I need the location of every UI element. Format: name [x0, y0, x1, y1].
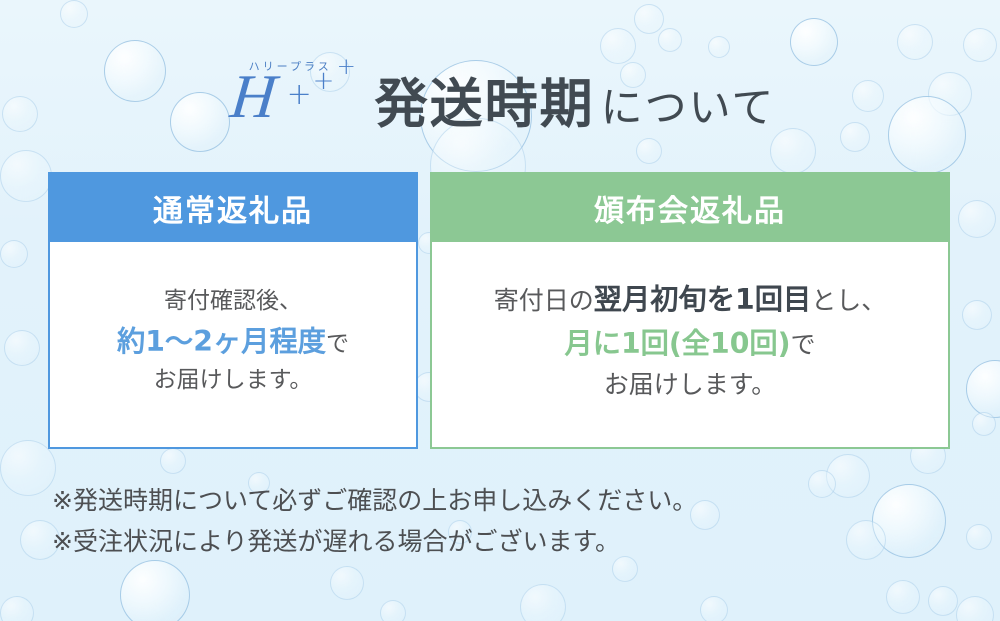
brand-logo: ハリープラス H + + + [225, 52, 373, 144]
page-header: ハリープラス H + + + 発送時期 について [0, 48, 1000, 144]
bubble-icon [928, 586, 958, 616]
card-subscription-header: 頒布会返礼品 [432, 174, 948, 242]
bubble-icon [972, 412, 996, 436]
card-regular-line-2-tail: で [326, 331, 349, 357]
card-subscription-gift: 頒布会返礼品 寄付日の翌月初旬を1回目とし、 月に1回(全10回)で お届けしま… [430, 172, 950, 449]
card-regular-gift: 通常返礼品 寄付確認後、 約1〜2ヶ月程度で お届けします。 [48, 172, 418, 449]
card-subscription-accent-frequency: 月に1回(全10回) [564, 327, 790, 360]
bubble-icon [120, 560, 190, 621]
bubble-icon [4, 330, 40, 366]
card-regular-accent-period: 約1〜2ヶ月程度 [117, 325, 326, 358]
bubble-icon [0, 596, 34, 621]
bubble-icon [330, 566, 364, 600]
bubble-icon [634, 4, 664, 34]
bubble-icon [700, 596, 728, 621]
card-regular-line-3: お届けします。 [154, 363, 313, 399]
card-subscription-body: 寄付日の翌月初旬を1回目とし、 月に1回(全10回)で お届けします。 [432, 242, 948, 447]
note-line-1: ※発送時期について必ずご確認の上お申し込みください。 [52, 481, 952, 522]
bubble-icon [956, 596, 994, 621]
bubble-icon [520, 584, 566, 621]
bubble-icon [0, 240, 28, 268]
card-regular-line-2: 約1〜2ヶ月程度で [117, 320, 349, 364]
card-subscription-line-2-tail: で [791, 330, 816, 359]
card-regular-body: 寄付確認後、 約1〜2ヶ月程度で お届けします。 [50, 242, 416, 447]
bubble-icon [886, 580, 920, 614]
card-subscription-line-1-tail: とし、 [811, 286, 886, 315]
card-subscription-line-1-lead: 寄付日の [494, 286, 594, 315]
card-subscription-line-1: 寄付日の翌月初旬を1回目とし、 [494, 278, 886, 322]
bubble-icon [962, 300, 992, 330]
page-title-suffix: について [601, 74, 776, 135]
card-regular-line-1: 寄付確認後、 [164, 284, 302, 320]
card-regular-header: 通常返礼品 [50, 174, 416, 242]
brand-plus-icon-2: + [313, 68, 335, 94]
bubble-icon [958, 200, 996, 238]
notes-section: ※発送時期について必ずご確認の上お申し込みください。 ※受注状況により発送が遅れ… [52, 481, 952, 562]
shipping-schedule-graphic: ハリープラス H + + + 発送時期 について 通常返礼品 寄付確認後、 約1… [0, 0, 1000, 621]
brand-plus-icon-1: + [287, 80, 312, 110]
brand-plus-icon-3: + [337, 56, 356, 79]
brand-letter-h: H [227, 66, 278, 128]
note-line-2: ※受注状況により発送が遅れる場合がございます。 [52, 522, 952, 563]
bubble-icon [380, 600, 406, 621]
card-subscription-strong-first-delivery: 翌月初旬を1回目 [594, 283, 811, 316]
page-title-main: 発送時期 [375, 62, 595, 138]
card-subscription-line-3: お届けします。 [604, 366, 777, 405]
bubble-icon [966, 360, 1000, 418]
card-subscription-line-2: 月に1回(全10回)で [564, 322, 815, 366]
bubble-icon [160, 448, 186, 474]
bubble-icon [60, 0, 88, 28]
bubble-icon [0, 150, 52, 202]
page-title: 発送時期 について [375, 62, 776, 144]
bubble-icon [966, 524, 992, 550]
